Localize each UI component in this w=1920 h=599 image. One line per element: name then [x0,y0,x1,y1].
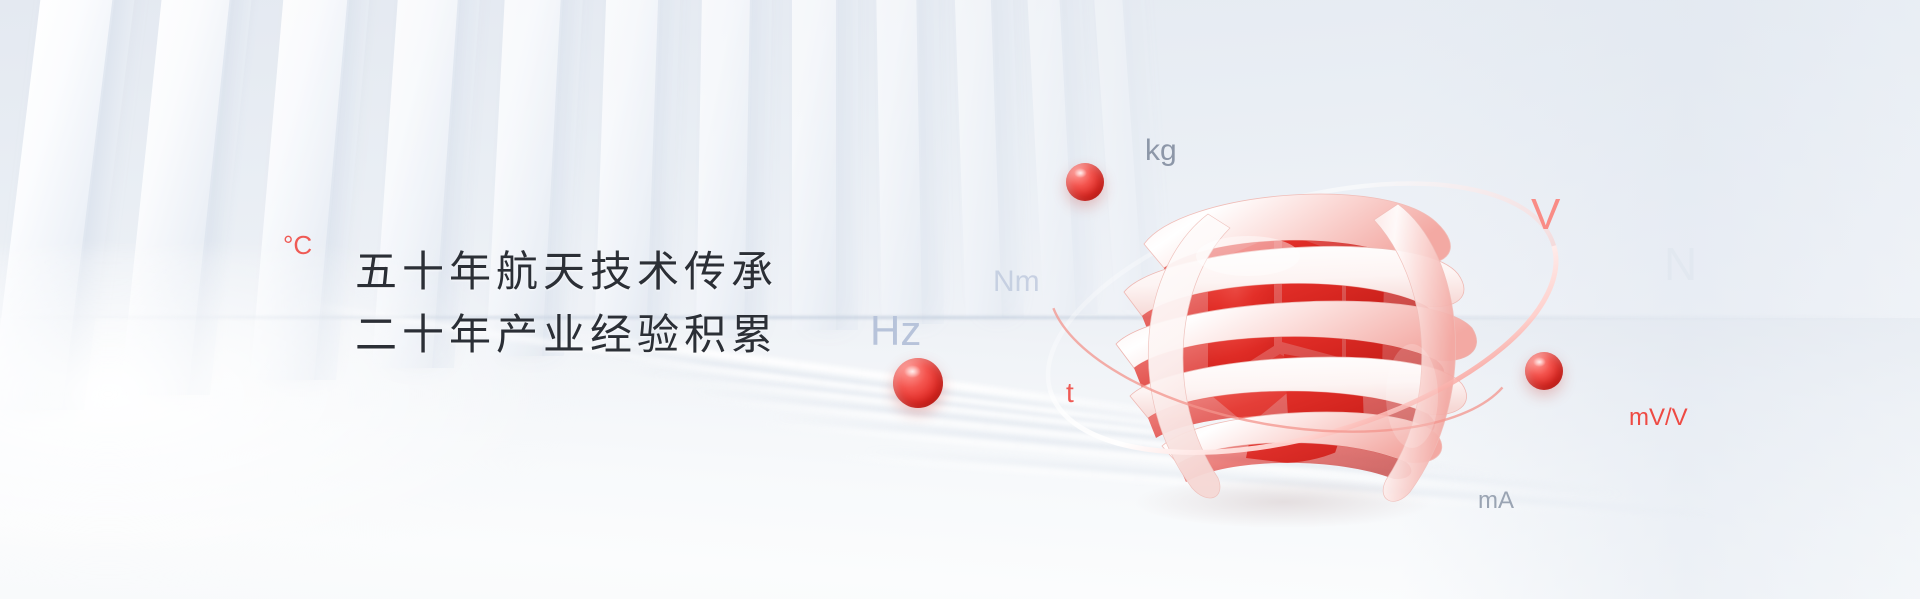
ribbon-sphere-graphic [1012,96,1592,526]
unit-label-t: t [1066,377,1074,409]
hero-banner: 五十年航天技术传承 二十年产业经验积累 [0,0,1920,599]
background-column [875,0,924,324]
unit-label-nm: Nm [993,265,1040,299]
unit-label-ma: mA [1478,487,1514,515]
headline-line-1: 五十年航天技术传承 [355,240,778,303]
unit-label-kg: kg [1145,134,1177,168]
unit-label-n: N [1664,237,1697,291]
ribbon-sphere-svg [1012,96,1592,526]
background-column [792,0,838,330]
highlight-top [1196,236,1300,276]
unit-label-c: °C [283,230,312,261]
headline-line-2: 二十年产业经验积累 [355,303,778,366]
accent-sphere [893,358,943,408]
unit-label-hz: Hz [870,307,921,355]
highlight-right [1386,344,1438,448]
ribbon-bands [1116,194,1477,501]
background-column-side [836,0,858,330]
unit-label-v: V [1531,190,1560,240]
headline-block: 五十年航天技术传承 二十年产业经验积累 [355,240,778,366]
unit-label-mvv: mV/V [1629,404,1688,432]
accent-sphere [1525,352,1563,390]
accent-sphere [1066,163,1104,201]
